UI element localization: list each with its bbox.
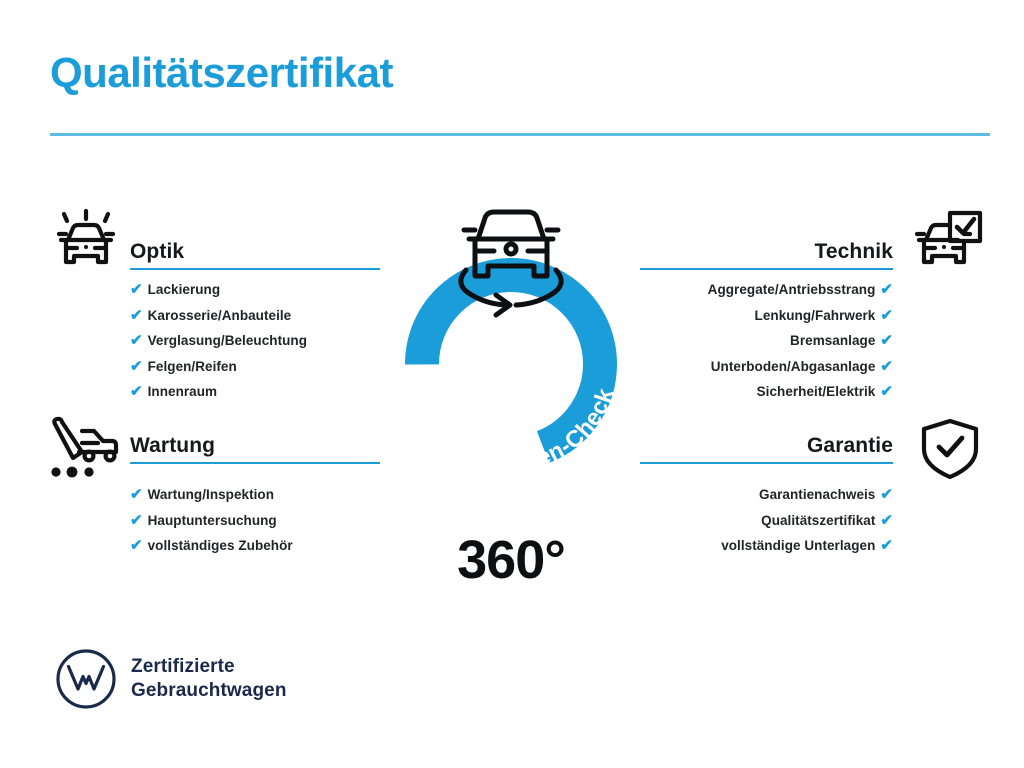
list-item-label: Aggregate/Antriebsstrang: [708, 282, 876, 297]
page-title: Qualitätszertifikat: [50, 50, 393, 96]
list-item: ✔Karosserie/Anbauteile: [130, 308, 380, 323]
badge-number: 360°: [374, 529, 648, 591]
title-divider: [50, 133, 990, 136]
check-icon: ✔: [130, 282, 143, 297]
list-item: Qualitätszertifikat✔: [640, 513, 893, 528]
check-icon: ✔: [880, 538, 893, 553]
list-item: ✔Felgen/Reifen: [130, 359, 380, 374]
section-garantie: Garantie Garantienachweis✔ Qualitätszert…: [640, 426, 893, 569]
list-item: Unterboden/Abgasanlage✔: [640, 359, 893, 374]
section-title: Wartung: [130, 434, 215, 458]
list-item: Bremsanlage✔: [640, 333, 893, 348]
list-item: ✔Wartung/Inspektion: [130, 487, 380, 502]
section-title: Optik: [130, 240, 184, 264]
section-wartung: Wartung ✔Wartung/Inspektion ✔Hauptunters…: [130, 426, 380, 569]
list-item: Aggregate/Antriebsstrang✔: [640, 282, 893, 297]
list-item-label: Bremsanlage: [790, 333, 875, 348]
check-icon: ✔: [130, 384, 143, 399]
list-item-label: Hauptuntersuchung: [148, 513, 277, 528]
section-technik: Technik Aggregate/Antriebsstrang✔ Lenkun…: [640, 232, 893, 415]
list-item: Garantienachweis✔: [640, 487, 893, 502]
list-item: Sicherheit/Elektrik✔: [640, 384, 893, 399]
section-header: Technik: [640, 232, 893, 270]
list-item-label: Lenkung/Fahrwerk: [755, 308, 876, 323]
check-icon: ✔: [880, 282, 893, 297]
list-item-label: Wartung/Inspektion: [148, 487, 274, 502]
check-icon: ✔: [880, 333, 893, 348]
section-header: Garantie: [640, 426, 893, 464]
section-divider: [130, 462, 380, 464]
section-optik: Optik ✔Lackierung ✔Karosserie/Anbauteile…: [130, 232, 380, 415]
list-item: ✔Lackierung: [130, 282, 380, 297]
certificate-page: Qualitätszertifikat Optik ✔Lackierung ✔K…: [0, 0, 1024, 768]
check-icon: ✔: [880, 384, 893, 399]
checklist: ✔Wartung/Inspektion ✔Hauptuntersuchung ✔…: [130, 487, 380, 553]
check-icon: ✔: [130, 359, 143, 374]
brand-line-2: Gebrauchtwagen: [131, 679, 287, 703]
list-item: ✔Hauptuntersuchung: [130, 513, 380, 528]
section-title: Garantie: [807, 434, 893, 458]
list-item: ✔vollständiges Zubehör: [130, 538, 380, 553]
list-item: vollständige Unterlagen✔: [640, 538, 893, 553]
check-icon: ✔: [130, 308, 143, 323]
list-item-label: vollständige Unterlagen: [721, 538, 875, 553]
list-item-label: Felgen/Reifen: [148, 359, 237, 374]
check-icon: ✔: [130, 487, 143, 502]
car-rotate-icon: [461, 212, 561, 315]
brand-text: Zertifizierte Gebrauchtwagen: [131, 655, 287, 704]
shield-check-icon: [912, 414, 988, 484]
check-icon: ✔: [130, 513, 143, 528]
list-item: ✔Innenraum: [130, 384, 380, 399]
checklist: ✔Lackierung ✔Karosserie/Anbauteile ✔Verg…: [130, 282, 380, 399]
check-icon: ✔: [130, 538, 143, 553]
section-divider: [640, 462, 893, 464]
checklist: Aggregate/Antriebsstrang✔ Lenkung/Fahrwe…: [640, 282, 893, 399]
section-title: Technik: [815, 240, 894, 264]
list-item-label: Unterboden/Abgasanlage: [711, 359, 876, 374]
360-gebrauchtwagen-check-badge: Gebrauchtwagen-Check 360°: [374, 192, 648, 482]
list-item-label: Verglasung/Beleuchtung: [148, 333, 307, 348]
check-icon: ✔: [130, 333, 143, 348]
checklist: Garantienachweis✔ Qualitätszertifikat✔ v…: [640, 487, 893, 553]
list-item: Lenkung/Fahrwerk✔: [640, 308, 893, 323]
car-checkbox-icon: [908, 208, 984, 278]
volkswagen-brand-lockup: Zertifizierte Gebrauchtwagen: [55, 648, 287, 710]
car-shine-icon: [48, 206, 124, 276]
check-icon: ✔: [880, 359, 893, 374]
list-item-label: vollständiges Zubehör: [148, 538, 293, 553]
check-icon: ✔: [880, 487, 893, 502]
section-header: Optik: [130, 232, 380, 270]
list-item: ✔Verglasung/Beleuchtung: [130, 333, 380, 348]
list-item-label: Karosserie/Anbauteile: [148, 308, 292, 323]
check-icon: ✔: [880, 308, 893, 323]
section-header: Wartung: [130, 426, 380, 464]
check-icon: ✔: [880, 513, 893, 528]
list-item-label: Sicherheit/Elektrik: [757, 384, 876, 399]
list-item-label: Garantienachweis: [759, 487, 875, 502]
list-item-label: Innenraum: [148, 384, 217, 399]
list-item-label: Lackierung: [148, 282, 221, 297]
section-divider: [640, 268, 893, 270]
section-divider: [130, 268, 380, 270]
volkswagen-logo-icon: [55, 648, 117, 710]
dipstick-oil-drops-icon: [46, 414, 122, 484]
list-item-label: Qualitätszertifikat: [761, 513, 875, 528]
brand-line-1: Zertifizierte: [131, 655, 287, 679]
